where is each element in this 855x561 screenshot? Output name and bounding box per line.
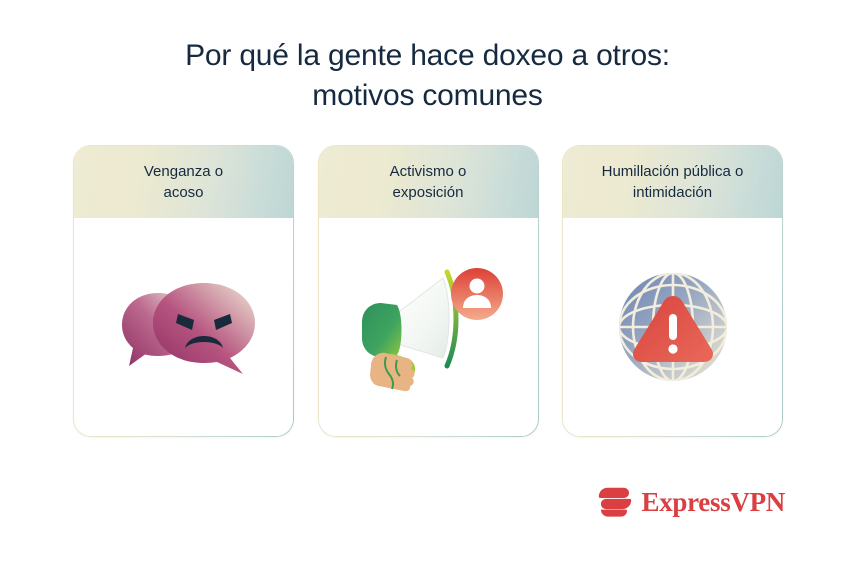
page-title-line-1: Por qué la gente hace doxeo a otros:	[0, 36, 855, 76]
megaphone-with-user-avatar-illustration	[351, 262, 506, 392]
angry-speech-bubbles-illustration	[109, 262, 259, 392]
cards-row: Venganza o acoso	[73, 145, 783, 437]
avatar-head-icon	[469, 279, 484, 294]
card-header: Venganza o acoso	[74, 146, 293, 218]
card-activismo-o-exposicion: Activismo o exposición	[318, 145, 539, 437]
card-title-line-2: acoso	[163, 184, 203, 201]
globe-with-warning-sign-illustration	[608, 262, 738, 392]
expressvpn-logo-mark	[598, 487, 632, 518]
card-body	[74, 218, 293, 436]
card-body	[563, 218, 782, 436]
page-title: Por qué la gente hace doxeo a otros: mot…	[0, 36, 855, 116]
page-title-line-2: motivos comunes	[0, 76, 855, 116]
card-title-line-2: intimidación	[633, 184, 712, 201]
card-title-line-1: Activismo o	[390, 163, 467, 180]
logo-mark-bottom-bar	[601, 499, 631, 509]
exclamation-bar	[669, 314, 677, 340]
card-header: Activismo o exposición	[319, 146, 538, 218]
card-title-line-1: Venganza o	[144, 163, 223, 180]
card-title: Activismo o exposición	[390, 161, 467, 203]
exclamation-dot	[668, 344, 677, 353]
card-title: Humillación pública o intimidación	[602, 161, 744, 203]
card-title-line-2: exposición	[393, 184, 464, 201]
user-avatar-circle	[451, 268, 503, 320]
card-title-line-1: Humillación pública o	[602, 163, 744, 180]
card-header: Humillación pública o intimidación	[563, 146, 782, 218]
logo-mark-tail	[601, 510, 627, 517]
logo-mark-top-bar	[599, 488, 629, 498]
front-speech-bubble	[153, 283, 255, 374]
expressvpn-wordmark: ExpressVPN	[641, 489, 785, 516]
card-title: Venganza o acoso	[144, 161, 223, 203]
expressvpn-logo: ExpressVPN	[598, 487, 785, 518]
card-body	[319, 218, 538, 436]
card-venganza-o-acoso: Venganza o acoso	[73, 145, 294, 437]
card-humillacion-publica-o-intimidacion: Humillación pública o intimidación	[562, 145, 783, 437]
megaphone-body	[362, 303, 402, 357]
infographic-page: Por qué la gente hace doxeo a otros: mot…	[0, 0, 855, 561]
